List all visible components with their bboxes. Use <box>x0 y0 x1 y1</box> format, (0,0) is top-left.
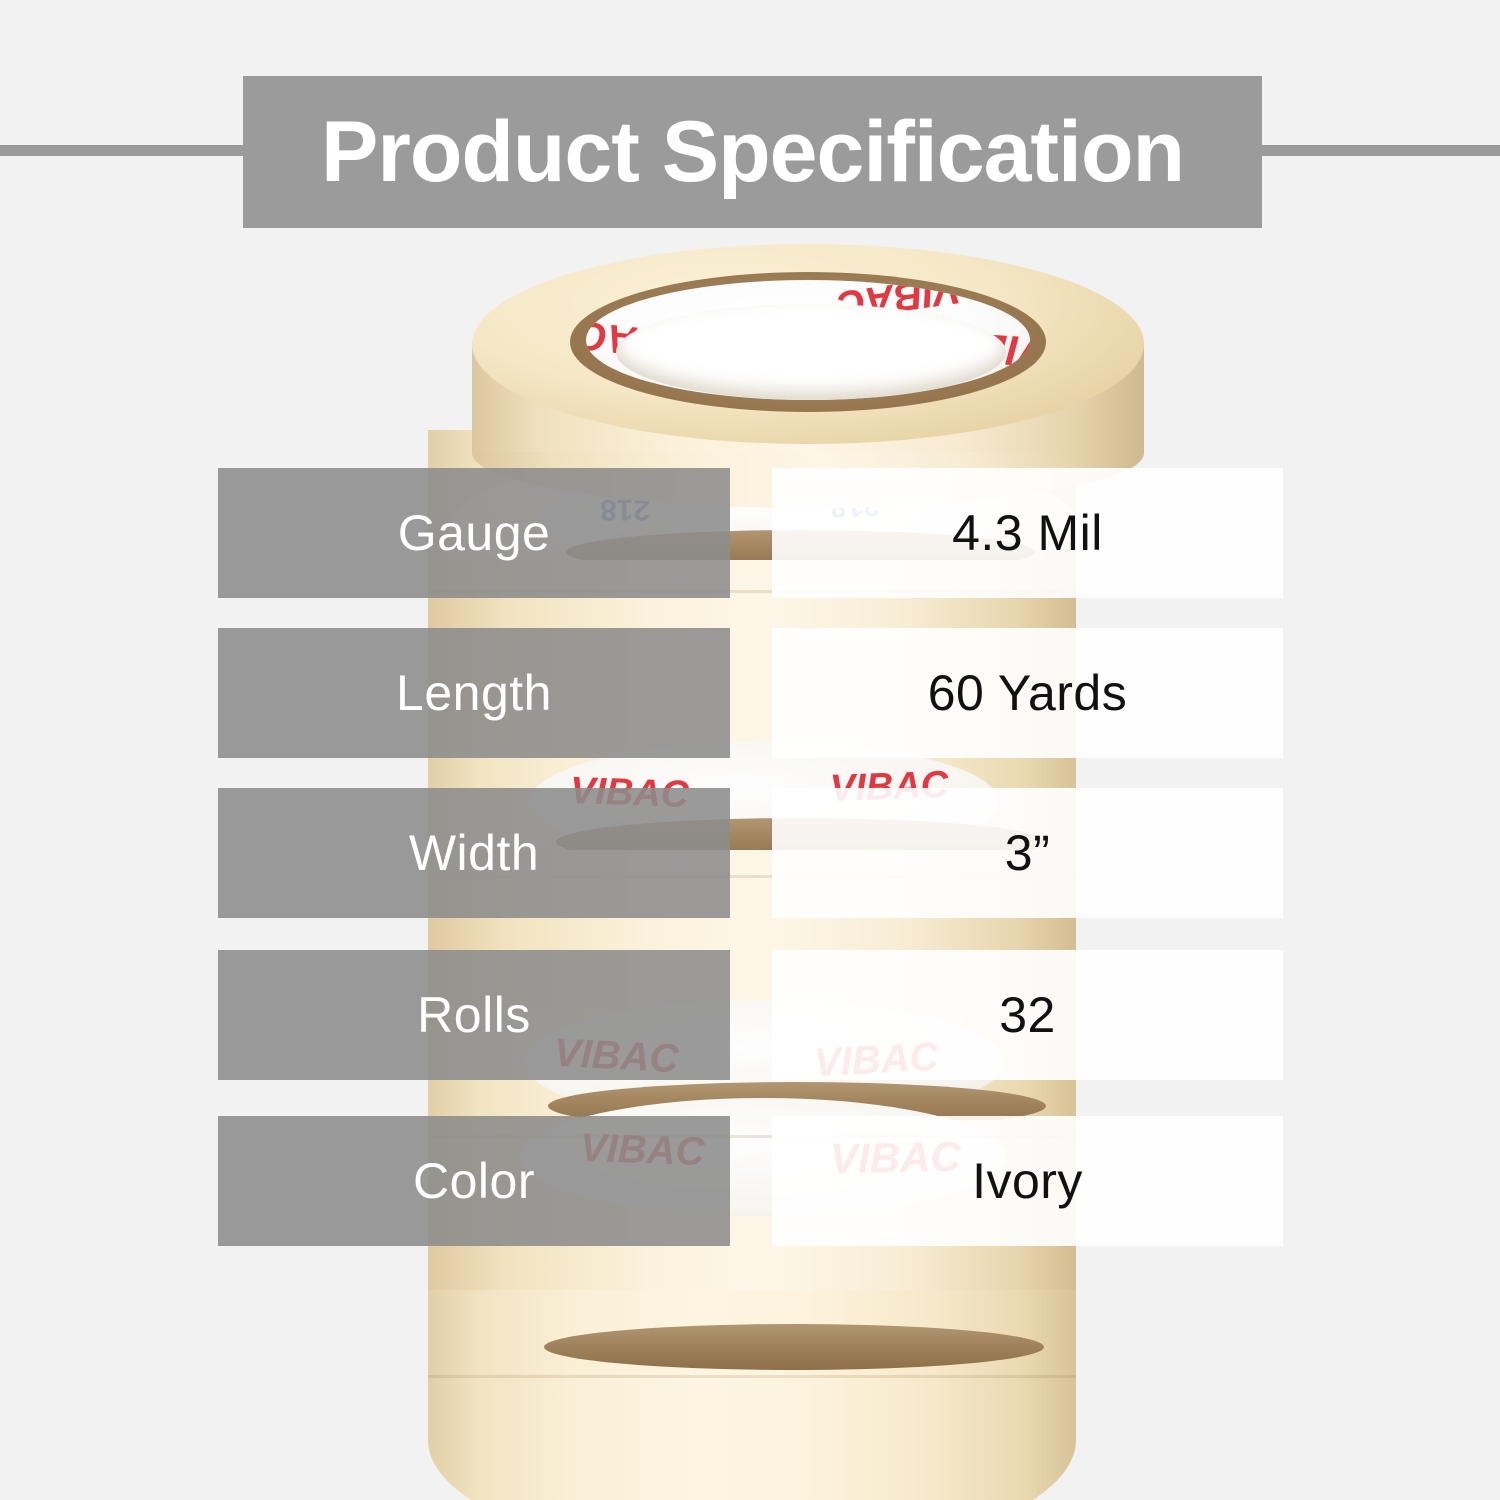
spec-value-width: 3” <box>1005 828 1050 878</box>
spec-value-box-width: 3” <box>772 788 1283 918</box>
spec-value-box-gauge: 4.3 Mil <box>772 468 1283 598</box>
spec-label-rolls: Rolls <box>417 990 531 1040</box>
spec-value-gauge: 4.3 Mil <box>952 508 1103 558</box>
spec-label-length: Length <box>396 668 552 718</box>
spec-value-box-rolls: 32 <box>772 950 1283 1080</box>
spec-label-gauge: Gauge <box>398 508 551 558</box>
spec-value-length: 60 Yards <box>928 668 1128 718</box>
spec-label-box-rolls: Rolls <box>218 950 730 1080</box>
spec-row-length: Length 60 Yards <box>218 628 1283 758</box>
spec-value-color: Ivory <box>972 1156 1083 1206</box>
spec-value-rolls: 32 <box>999 990 1056 1040</box>
spec-row-width: Width 3” <box>218 788 1283 918</box>
spec-label-box-width: Width <box>218 788 730 918</box>
spec-value-box-length: 60 Yards <box>772 628 1283 758</box>
title-banner: Product Specification <box>243 76 1262 228</box>
spec-row-rolls: Rolls 32 <box>218 950 1283 1080</box>
spec-label-width: Width <box>409 828 539 878</box>
spec-row-gauge: Gauge 4.3 Mil <box>218 468 1283 598</box>
product-specification-card: Product Specification Packaging 218 218 … <box>0 0 1500 1500</box>
page-title: Product Specification <box>321 109 1184 195</box>
spec-label-box-gauge: Gauge <box>218 468 730 598</box>
spec-value-box-color: Ivory <box>772 1116 1283 1246</box>
spec-label-color: Color <box>413 1156 535 1206</box>
spec-row-color: Color Ivory <box>218 1116 1283 1246</box>
spec-label-box-color: Color <box>218 1116 730 1246</box>
spec-label-box-length: Length <box>218 628 730 758</box>
